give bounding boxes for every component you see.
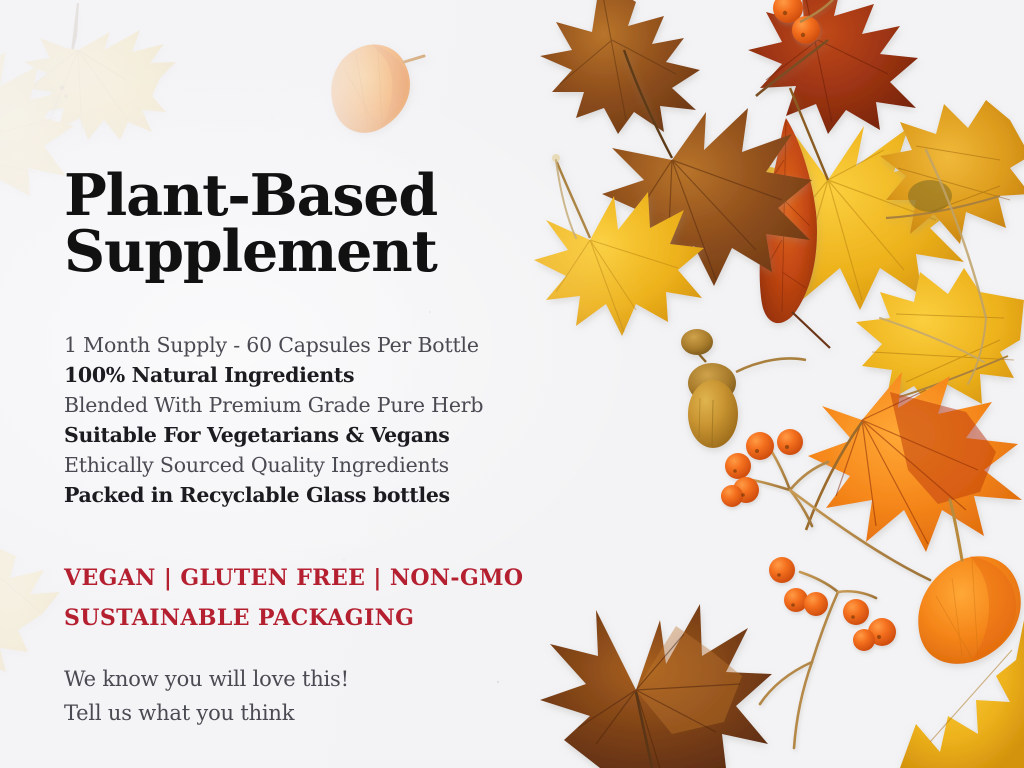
leaf-yellow-center bbox=[742, 40, 966, 310]
dried-stems bbox=[556, 150, 986, 384]
headline-line-2: Supplement bbox=[64, 224, 584, 280]
berries-topcenter bbox=[773, 0, 836, 44]
poster-canvas: Plant-Based Supplement 1 Month Supply - … bbox=[0, 0, 1024, 768]
closing-line: Tell us what you think bbox=[64, 696, 584, 730]
headline-line-1: Plant-Based bbox=[64, 168, 584, 224]
feature-list: 1 Month Supply - 60 Capsules Per Bottle … bbox=[64, 330, 584, 510]
feature-item: Blended With Premium Grade Pure Herb bbox=[64, 390, 584, 420]
leaf-gold-bottomright bbox=[900, 620, 1024, 768]
leaf-gold-right-lower bbox=[856, 268, 1024, 414]
leaf-red-midright bbox=[760, 118, 830, 348]
claims-list: VEGAN | GLUTEN FREE | NON-GMO SUSTAINABL… bbox=[64, 558, 584, 638]
leaf-darkbrown-upper bbox=[602, 50, 812, 286]
feature-item: Suitable For Vegetarians & Vegans bbox=[64, 420, 584, 450]
feature-item: 1 Month Supply - 60 Capsules Per Bottle bbox=[64, 330, 584, 360]
leaf-top-partial-b bbox=[748, 0, 918, 134]
closing-message: We know you will love this! Tell us what… bbox=[64, 662, 584, 730]
berry-branch-lower bbox=[760, 557, 896, 748]
closing-line: We know you will love this! bbox=[64, 662, 584, 696]
leaf-gold-right-upper bbox=[880, 100, 1024, 244]
leaf-orange-large-right bbox=[806, 372, 1022, 552]
claim-item: SUSTAINABLE PACKAGING bbox=[64, 598, 584, 638]
feature-item: Packed in Recyclable Glass bottles bbox=[64, 480, 584, 510]
feature-item: Ethically Sourced Quality Ingredients bbox=[64, 450, 584, 480]
leaf-yellow-leftedge bbox=[0, 540, 60, 672]
claim-item: VEGAN | GLUTEN FREE | NON-GMO bbox=[64, 558, 584, 598]
acorn bbox=[681, 329, 806, 448]
berry-branch-upper bbox=[721, 429, 930, 580]
physalis-husk-lowerright bbox=[918, 500, 1021, 664]
poster-text-column: Plant-Based Supplement 1 Month Supply - … bbox=[64, 0, 584, 768]
feature-item: 100% Natural Ingredients bbox=[64, 360, 584, 390]
leaf-gold-leftedge-top bbox=[0, 52, 74, 204]
page-title: Plant-Based Supplement bbox=[64, 168, 584, 281]
